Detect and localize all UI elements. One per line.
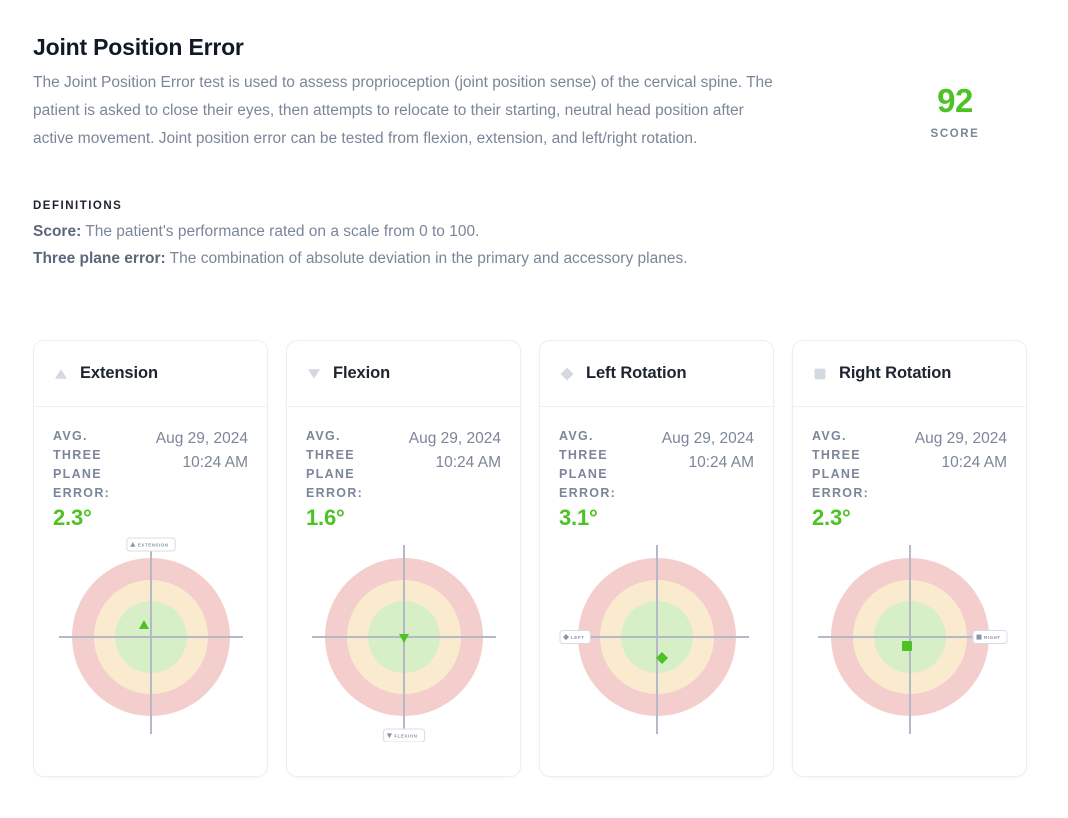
target-plot: LEFT	[559, 537, 755, 742]
measurement-date: Aug 29, 2024	[409, 427, 501, 451]
measurement-date: Aug 29, 2024	[156, 427, 248, 451]
movement-card-right-rotation[interactable]: Right Rotation AVG. THREE PLANE ERROR: A…	[792, 340, 1027, 777]
definition-term: Three plane error:	[33, 250, 166, 267]
measurement-date: Aug 29, 2024	[915, 427, 1007, 451]
page-header: Joint Position Error The Joint Position …	[33, 34, 1035, 152]
three-plane-error-value: 3.1°	[559, 505, 754, 531]
svg-text:EXTENSION: EXTENSION	[138, 543, 169, 548]
target-chip-flexion: FLEXION	[383, 729, 424, 742]
metric-row: AVG. THREE PLANE ERROR: Aug 29, 2024 10:…	[306, 427, 501, 503]
movement-cards-row: Extension AVG. THREE PLANE ERROR: Aug 29…	[33, 340, 1035, 777]
card-header: Right Rotation	[793, 341, 1026, 407]
definitions-heading: DEFINITIONS	[33, 200, 753, 212]
target-chart-area: EXTENSION	[53, 537, 248, 776]
metric-row: AVG. THREE PLANE ERROR: Aug 29, 2024 10:…	[53, 427, 248, 503]
three-plane-error-value: 1.6°	[306, 505, 501, 531]
three-plane-error-value: 2.3°	[53, 505, 248, 531]
metric-label: AVG. THREE PLANE ERROR:	[53, 427, 139, 503]
target-chip-extension: EXTENSION	[127, 538, 175, 551]
timestamp-block: Aug 29, 2024 10:24 AM	[409, 427, 501, 474]
movement-card-flexion[interactable]: Flexion AVG. THREE PLANE ERROR: Aug 29, …	[286, 340, 521, 777]
card-body: AVG. THREE PLANE ERROR: Aug 29, 2024 10:…	[287, 407, 520, 776]
measurement-time: 10:24 AM	[156, 451, 248, 475]
square-icon	[812, 366, 828, 382]
timestamp-block: Aug 29, 2024 10:24 AM	[915, 427, 1007, 474]
measurement-date: Aug 29, 2024	[662, 427, 754, 451]
measurement-time: 10:24 AM	[409, 451, 501, 475]
definition-text: The patient's performance rated on a sca…	[81, 223, 479, 240]
svg-text:RIGHT: RIGHT	[984, 635, 1001, 640]
card-title: Left Rotation	[586, 364, 686, 383]
target-chip-right: RIGHT	[973, 631, 1007, 644]
target-plot: EXTENSION	[53, 537, 249, 742]
metric-label: AVG. THREE PLANE ERROR:	[306, 427, 392, 503]
measurement-time: 10:24 AM	[915, 451, 1007, 475]
timestamp-block: Aug 29, 2024 10:24 AM	[662, 427, 754, 474]
triangle-down-icon	[306, 366, 322, 382]
card-title: Right Rotation	[839, 364, 951, 383]
movement-card-extension[interactable]: Extension AVG. THREE PLANE ERROR: Aug 29…	[33, 340, 268, 777]
page-intro-paragraph: The Joint Position Error test is used to…	[33, 69, 785, 152]
triangle-up-icon	[53, 366, 69, 382]
definitions-section: DEFINITIONS Score: The patient's perform…	[33, 200, 753, 272]
target-chart-area: RIGHT	[812, 537, 1007, 776]
definition-text: The combination of absolute deviation in…	[166, 250, 688, 267]
diamond-icon	[559, 366, 575, 382]
movement-card-left-rotation[interactable]: Left Rotation AVG. THREE PLANE ERROR: Au…	[539, 340, 774, 777]
metric-row: AVG. THREE PLANE ERROR: Aug 29, 2024 10:…	[812, 427, 1007, 503]
card-header: Extension	[34, 341, 267, 407]
joint-position-error-page: Joint Position Error The Joint Position …	[0, 0, 1068, 818]
card-body: AVG. THREE PLANE ERROR: Aug 29, 2024 10:…	[540, 407, 773, 776]
card-header: Flexion	[287, 341, 520, 407]
target-chart-area: FLEXION	[306, 537, 501, 776]
metric-row: AVG. THREE PLANE ERROR: Aug 29, 2024 10:…	[559, 427, 754, 503]
metric-label: AVG. THREE PLANE ERROR:	[559, 427, 645, 503]
card-header: Left Rotation	[540, 341, 773, 407]
score-label: SCORE	[875, 128, 1035, 140]
card-body: AVG. THREE PLANE ERROR: Aug 29, 2024 10:…	[793, 407, 1026, 776]
measurement-time: 10:24 AM	[662, 451, 754, 475]
target-plot: FLEXION	[306, 537, 502, 742]
svg-text:LEFT: LEFT	[571, 635, 584, 640]
svg-text:FLEXION: FLEXION	[394, 734, 417, 739]
target-chip-left: LEFT	[560, 631, 590, 644]
score-value: 92	[875, 84, 1035, 117]
definition-score: Score: The patient's performance rated o…	[33, 218, 753, 245]
definition-three-plane-error: Three plane error: The combination of ab…	[33, 245, 753, 272]
metric-label: AVG. THREE PLANE ERROR:	[812, 427, 898, 503]
timestamp-block: Aug 29, 2024 10:24 AM	[156, 427, 248, 474]
score-block: 92 SCORE	[875, 34, 1035, 140]
header-text-block: Joint Position Error The Joint Position …	[33, 34, 793, 152]
definition-term: Score:	[33, 223, 81, 240]
page-title: Joint Position Error	[33, 34, 793, 60]
target-plot: RIGHT	[812, 537, 1008, 742]
card-title: Flexion	[333, 364, 390, 383]
card-body: AVG. THREE PLANE ERROR: Aug 29, 2024 10:…	[34, 407, 267, 776]
target-chart-area: LEFT	[559, 537, 754, 776]
card-title: Extension	[80, 364, 158, 383]
three-plane-error-value: 2.3°	[812, 505, 1007, 531]
